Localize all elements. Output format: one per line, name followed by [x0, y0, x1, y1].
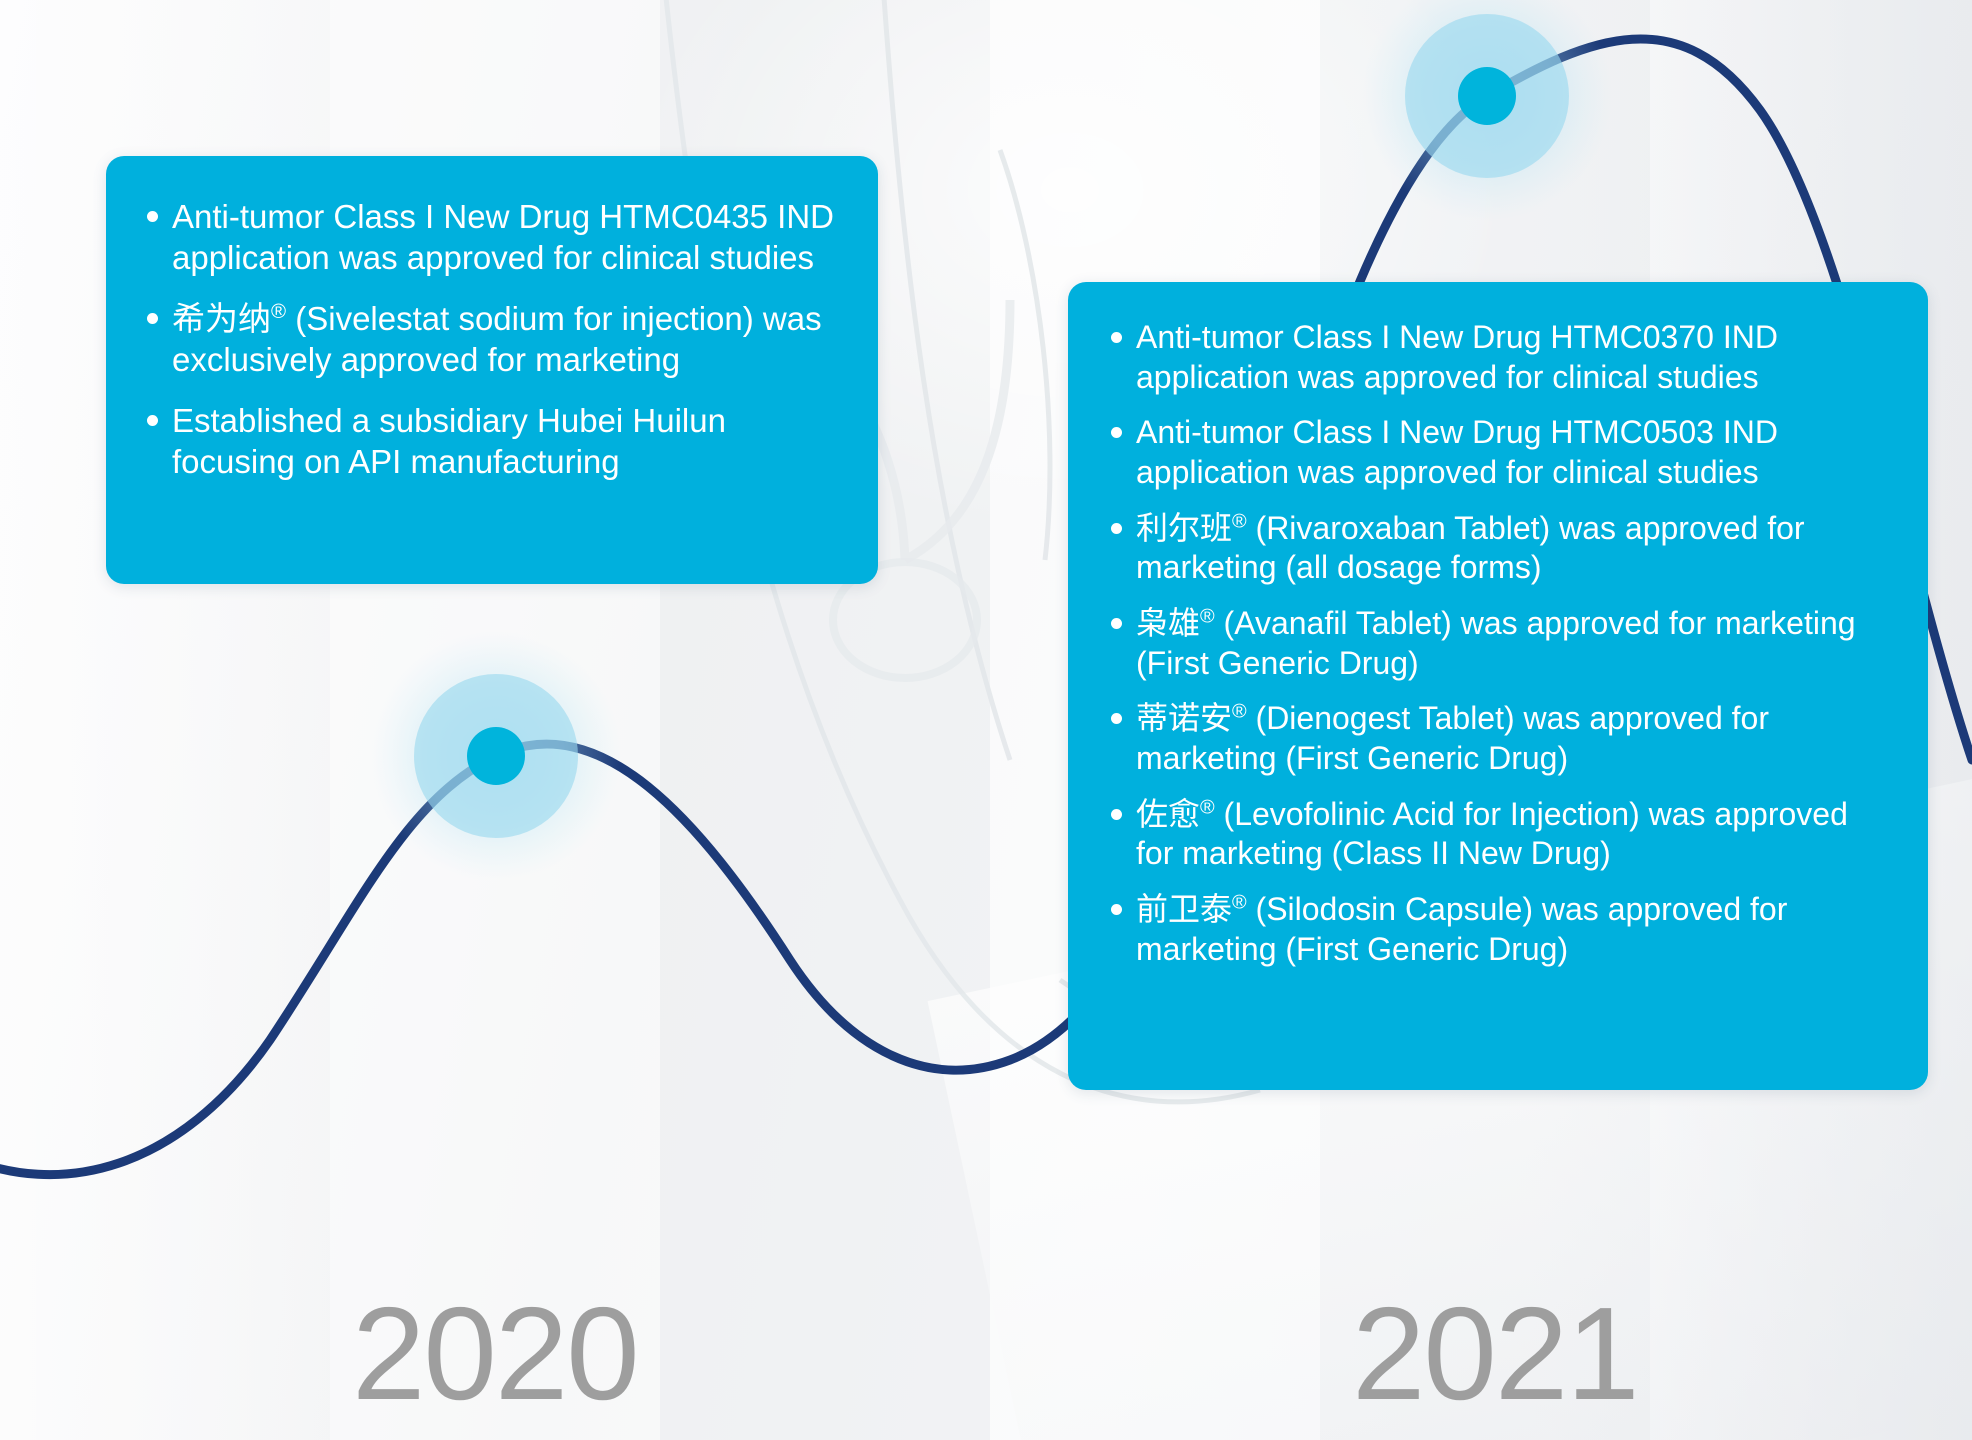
registered-trademark-icon: ®	[1232, 891, 1247, 913]
registered-trademark-icon: ®	[1200, 605, 1215, 627]
registered-trademark-icon: ®	[271, 300, 286, 323]
drug-brand-name: 前卫泰	[1136, 891, 1232, 927]
milestone-item: Anti-tumor Class I New Drug HTMC0435 IND…	[138, 196, 844, 279]
timeline-node-dot-icon	[467, 727, 525, 785]
milestone-item: 枭雄® (Avanafil Tablet) was approved for m…	[1102, 604, 1892, 683]
milestone-item-text: Anti-tumor Class I New Drug HTMC0503 IND…	[1136, 414, 1778, 490]
registered-trademark-icon: ®	[1232, 701, 1247, 723]
milestone-card-2021[interactable]: Anti-tumor Class I New Drug HTMC0370 IND…	[1068, 282, 1928, 1090]
milestone-item: 利尔班® (Rivaroxaban Tablet) was approved f…	[1102, 509, 1892, 588]
milestone-item-text: Established a subsidiary Hubei Huilun fo…	[172, 402, 726, 480]
registered-trademark-icon: ®	[1200, 796, 1215, 818]
milestone-item: Anti-tumor Class I New Drug HTMC0370 IND…	[1102, 318, 1892, 397]
milestone-item: 前卫泰® (Silodosin Capsule) was approved fo…	[1102, 890, 1892, 969]
milestone-list-2020: Anti-tumor Class I New Drug HTMC0435 IND…	[138, 196, 844, 482]
timeline-node-2021[interactable]	[1362, 0, 1612, 221]
milestone-item-text: Anti-tumor Class I New Drug HTMC0435 IND…	[172, 198, 834, 276]
milestone-item: Established a subsidiary Hubei Huilun fo…	[138, 400, 844, 483]
drug-brand-name: 佐愈	[1136, 796, 1200, 832]
drug-brand-name: 希为纳	[172, 300, 271, 337]
registered-trademark-icon: ®	[1232, 510, 1247, 532]
milestone-list-2021: Anti-tumor Class I New Drug HTMC0370 IND…	[1102, 318, 1892, 969]
milestone-item-text: (Avanafil Tablet) was approved for marke…	[1136, 605, 1856, 681]
milestone-item: 蒂诺安® (Dienogest Tablet) was approved for…	[1102, 699, 1892, 778]
drug-brand-name: 利尔班	[1136, 510, 1232, 546]
timeline-node-2020[interactable]	[371, 631, 621, 881]
timeline-node-dot-icon	[1458, 67, 1516, 125]
milestone-card-2020[interactable]: Anti-tumor Class I New Drug HTMC0435 IND…	[106, 156, 878, 584]
milestone-item: 佐愈® (Levofolinic Acid for Injection) was…	[1102, 795, 1892, 874]
year-label-2020: 2020	[352, 1288, 638, 1420]
drug-brand-name: 蒂诺安	[1136, 700, 1232, 736]
milestone-item: 希为纳® (Sivelestat sodium for injection) w…	[138, 298, 844, 381]
milestone-item: Anti-tumor Class I New Drug HTMC0503 IND…	[1102, 413, 1892, 492]
milestone-item-text: (Levofolinic Acid for Injection) was app…	[1136, 796, 1848, 872]
year-label-2021: 2021	[1352, 1288, 1638, 1420]
milestone-item-text: Anti-tumor Class I New Drug HTMC0370 IND…	[1136, 319, 1778, 395]
drug-brand-name: 枭雄	[1136, 605, 1200, 641]
